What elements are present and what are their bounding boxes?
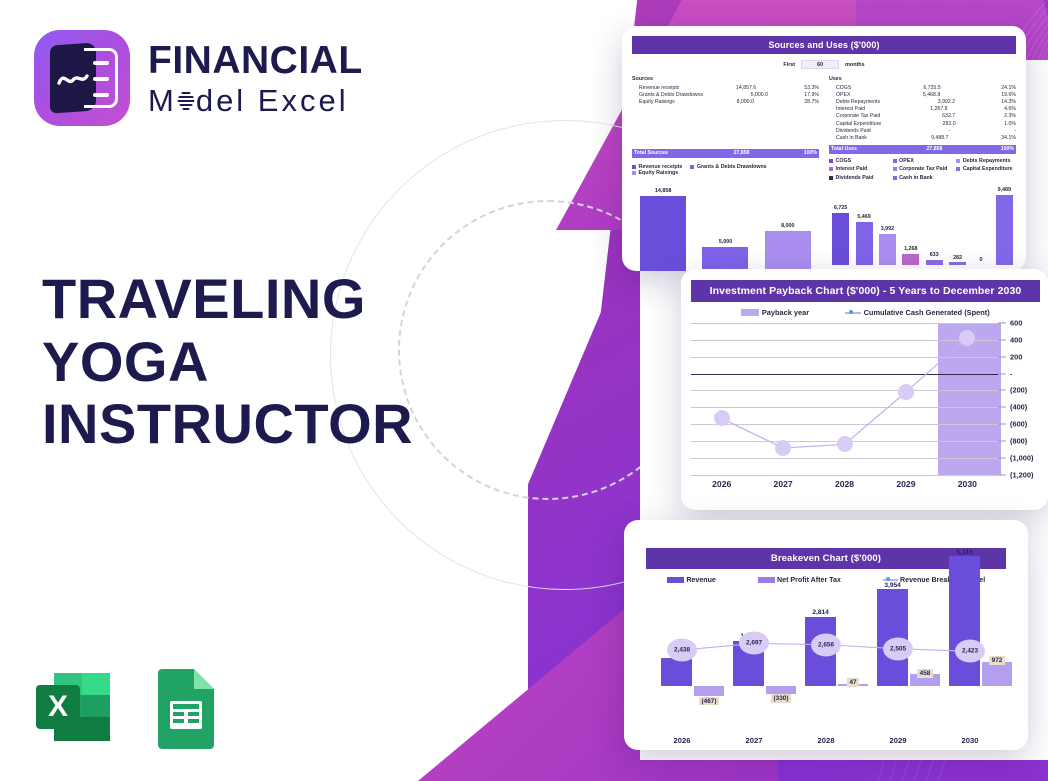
payback-plot-area: 600 400 200 - (200) (400) (600) (800) (1… [691,323,1040,475]
data-point-2026 [714,410,730,426]
table-row: Corporate Tax Paid 632.7 2.3% [829,113,1016,120]
sources-legend: Revenue receipts Grants & Debts Drawdown… [632,164,819,176]
logo-list-lines-icon [84,48,118,108]
x-tick-label: 2026 [691,479,752,489]
supported-apps: X [30,663,220,751]
data-point-2028 [837,436,853,452]
bubble-breakeven-2029: 2,505 [883,637,913,660]
table-row: Dividends Paid - - [829,127,1016,134]
legend-item[interactable]: Corporate Tax Paid [893,166,953,172]
first-label: First [783,62,795,68]
payback-legend: Payback year Cumulative Cash Generated (… [691,308,1040,317]
legend-item[interactable]: Dividends Paid [829,175,889,181]
bubble-breakeven-2027: 2,697 [739,632,769,655]
sources-total-row: Total Sources 27,858 100% [632,149,819,158]
bar-shape [856,222,873,265]
legend-swatch-icon [829,159,833,163]
left-content-panel: FINANCIAL M del Excel TRAVELING YOGA INS… [0,0,470,781]
payback-plot [691,323,998,475]
legend-swatch-icon [741,309,759,316]
legend-item[interactable]: Cash in Bank [893,175,953,181]
spacer [632,106,819,114]
months-label: months [845,62,864,68]
brand-line2: M del Excel [148,85,363,116]
label-npat-2029: 458 [917,669,933,678]
bubble-breakeven-2030: 2,423 [955,640,985,663]
bubble-breakeven-2026: 2,438 [667,639,697,662]
breakeven-x-axis: 2026 2027 2028 2029 2030 [646,736,1006,745]
sources-header: Sources [632,76,819,82]
legend-item[interactable]: Capital Expenditure [956,166,1016,172]
legend-item[interactable]: Interest Paid [829,166,889,172]
bar-dividends-paid: 0 [972,186,989,265]
table-row: Cash in Bank 9,488.7 34.1% [829,134,1016,141]
sources-column: Sources Revenue receipts 14,857.6 53.3% … [632,76,819,158]
google-sheets-icon[interactable] [152,663,220,751]
payback-x-axis: 2026 2027 2028 2029 2030 [691,479,1040,489]
legend-swatch-icon [893,176,897,180]
spacer [632,114,819,122]
table-row: Equity Raisings 8,000.0 28.7% [632,98,819,105]
legend-item[interactable]: Debts Repayments [956,158,1016,164]
payback-title: Investment Payback Chart ($'000) - 5 Yea… [691,280,1040,302]
brand-line2-pre: M [148,85,177,116]
sources-bar-chart: 14,858 5,000 8,000 [632,182,819,271]
x-tick-label: 2028 [814,479,875,489]
legend-swatch-icon [632,165,636,169]
uses-header: Uses [829,76,1016,82]
poster-canvas: FINANCIAL M del Excel TRAVELING YOGA INS… [0,0,1048,781]
x-tick-label: 2029 [875,479,936,489]
label-npat-2028: 47 [847,678,859,687]
label-revenue-2029: 3,954 [884,582,901,589]
bar-grants-debts: 5,000 [702,182,748,271]
bar-corporate-tax-paid: 633 [926,186,943,265]
legend-item-cumulative-cash[interactable]: Cumulative Cash Generated (Spent) [845,308,990,317]
bar-shape [832,213,849,265]
uses-bar-chart: 6,725 5,469 3,992 1,268 [829,186,1016,265]
legend-item[interactable]: Grants & Debts Drawdowns [690,164,766,170]
label-npat-2026: (467) [699,697,719,706]
legend-item[interactable]: COGS [829,158,889,164]
bar-shape [926,260,943,265]
legend-swatch-icon [893,159,897,163]
bar-debts-repayments: 3,992 [879,186,896,265]
spacer [632,138,819,146]
bar-revenue-receipts: 14,858 [640,182,686,271]
bar-equity-raisings: 8,000 [765,182,811,271]
legend-item[interactable]: OPEX [893,158,953,164]
legend-item-payback-year[interactable]: Payback year [741,308,809,317]
legend-swatch-icon [829,176,833,180]
sources-uses-table: Sources Revenue receipts 14,857.6 53.3% … [632,76,1016,158]
x-tick-label: 2028 [790,736,862,745]
legend-swatch-icon [667,577,684,583]
spacer [632,130,819,138]
data-point-2027 [775,440,791,456]
breakeven-plot-area: 1,140 1,848 2,814 3,954 5,316 (467) (330… [646,588,1006,720]
table-row: Interest Paid 1,267.8 4.6% [829,106,1016,113]
sources-uses-title: Sources and Uses ($'000) [632,36,1016,54]
x-tick-label: 2027 [752,479,813,489]
screenshot-card-breakeven[interactable]: Breakeven Chart ($'000) Revenue Net Prof… [624,520,1028,750]
brand-line1: FINANCIAL [148,41,363,80]
table-row: Debts Repayments 3,992.2 14.3% [829,98,1016,105]
x-tick-label: 2029 [862,736,934,745]
bar-opex: 5,469 [856,186,873,265]
legend-swatch-icon [956,159,960,163]
logo-o-hamburger-icon [178,89,195,111]
legend-swatch-icon [690,165,694,169]
screenshot-card-investment-payback[interactable]: Investment Payback Chart ($'000) - 5 Yea… [681,269,1048,510]
label-revenue-2028: 2,814 [812,609,829,616]
bar-capital-expenditure: 282 [949,186,966,265]
microsoft-excel-icon[interactable]: X [30,663,118,751]
legend-swatch-icon [758,577,775,583]
x-tick-label: 2030 [934,736,1006,745]
financial-model-excel-logo-icon [34,30,130,126]
first-months-control[interactable]: First 60 months [632,60,1016,69]
screenshot-card-sources-uses[interactable]: Sources and Uses ($'000) First 60 months… [622,26,1026,271]
bar-shape [902,254,919,265]
legend-item-revenue[interactable]: Revenue [667,576,716,584]
legend-swatch-icon [956,167,960,171]
spacer [632,122,819,130]
bar-cash-in-bank: 9,489 [996,186,1013,265]
table-row: Grants & Debts Drawdowns 5,000.0 17.9% [632,91,819,98]
legend-line-icon [845,312,861,314]
bar-shape [996,195,1013,265]
brand-logo[interactable]: FINANCIAL M del Excel [34,30,363,126]
legend-swatch-icon [829,167,833,171]
legend-item[interactable]: Equity Raisings [632,170,678,176]
svg-text:X: X [48,690,68,723]
legend-item-net-profit[interactable]: Net Profit After Tax [758,576,841,584]
logo-squiggle-icon [57,72,89,88]
table-row: Revenue receipts 14,857.6 53.3% [632,84,819,91]
data-point-2029 [898,384,914,400]
bar-shape [640,196,686,271]
brand-wordmark: FINANCIAL M del Excel [148,41,363,116]
bar-interest-paid: 1,268 [902,186,919,265]
label-npat-2027: (330) [771,694,791,703]
label-npat-2030: 972 [989,656,1005,665]
uses-total-row: Total Uses 27,858 100% [829,145,1016,154]
table-row: COGS 6,725.5 24.1% [829,84,1016,91]
table-row: Capital Expenditure 282.0 1.0% [829,120,1016,127]
bar-shape [949,262,966,265]
brand-line2-post: del Excel [196,85,349,116]
bar-shape [702,247,748,271]
months-input[interactable]: 60 [801,60,839,69]
page-title: TRAVELING YOGA INSTRUCTOR [42,268,462,456]
x-tick-label: 2027 [718,736,790,745]
uses-legend: COGS OPEX Debts Repayments Interest Paid [829,158,1016,181]
bubble-breakeven-2028: 2,656 [811,633,841,656]
payback-y-axis: 600 400 200 - (200) (400) (600) (800) (1… [998,323,1040,475]
bar-cogs: 6,725 [832,186,849,265]
table-row: OPEX 5,468.8 19.6% [829,91,1016,98]
bar-shape [765,231,811,271]
legend-swatch-icon [893,167,897,171]
data-point-2030 [959,330,975,346]
legend-swatch-icon [632,171,636,175]
x-tick-label: 2030 [937,479,998,489]
uses-column: Uses COGS 6,725.5 24.1% OPEX 5,468.8 19.… [829,76,1016,158]
x-tick-label: 2026 [646,736,718,745]
bar-shape [879,234,896,265]
label-revenue-2030: 5,316 [956,549,973,556]
